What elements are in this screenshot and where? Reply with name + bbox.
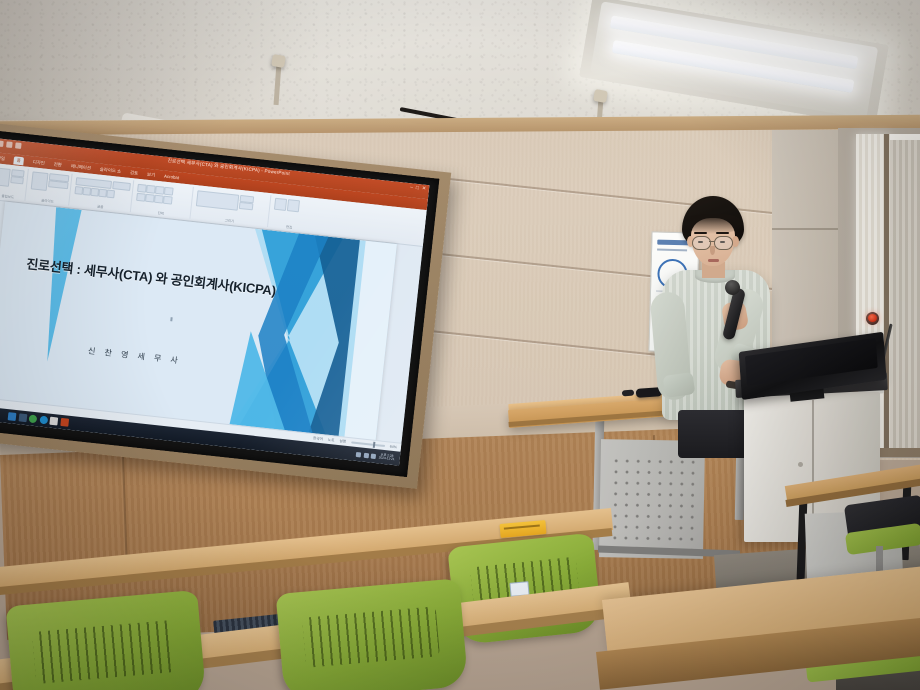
mic-indicator-light [868, 314, 877, 322]
screen-bracket-left [271, 54, 286, 68]
ribbon-group-slides[interactable]: 슬라이드 [26, 169, 72, 205]
eyeglasses-lens-right [714, 236, 733, 250]
taskbar-clock[interactable]: 오후 2:28 2024-11-21 [378, 453, 397, 462]
window-mullion [884, 134, 889, 452]
tab-acrobat[interactable]: Acrobat [164, 174, 180, 181]
quick-access-toolbar[interactable] [0, 140, 22, 149]
eyebrow-right [716, 232, 729, 234]
table-panel-perforations [609, 455, 695, 548]
ribbon-group-editing[interactable]: 편집 [269, 195, 312, 231]
start-icon[interactable] [8, 412, 17, 421]
save-icon[interactable] [0, 140, 4, 147]
system-tray[interactable]: 오후 2:28 2024-11-21 [356, 451, 400, 462]
redo-icon[interactable] [15, 142, 22, 149]
line-spacing-button[interactable] [164, 187, 174, 196]
new-slide-button[interactable] [31, 171, 49, 191]
paste-button[interactable] [0, 167, 11, 186]
undo-icon[interactable] [6, 141, 13, 148]
tv-screen[interactable]: 진로선택 세무사(CTA) 와 공인회계사(KICPA) - PowerPoin… [0, 138, 429, 466]
tab-file[interactable]: 파일 [0, 155, 5, 162]
tab-transitions[interactable]: 전환 [53, 161, 62, 168]
ribbon-group-clipboard[interactable]: 클립보드 [0, 165, 29, 201]
screen-bracket-right [593, 89, 608, 103]
sweater-cuff-left [663, 372, 696, 398]
justify-button[interactable] [163, 196, 173, 205]
tab-review[interactable]: 검토 [130, 169, 139, 176]
shape-outline-button[interactable] [239, 202, 254, 210]
minimize-icon[interactable]: – [410, 184, 413, 190]
window-controls[interactable]: – □ ✕ [410, 184, 427, 192]
powerpoint-window[interactable]: 진로선택 세무사(CTA) 와 공인회계사(KICPA) - PowerPoin… [0, 138, 429, 466]
ribbon-group-paragraph[interactable]: 단락 [132, 181, 194, 219]
presenter-ear-right [732, 236, 739, 247]
tab-design[interactable]: 디자인 [32, 159, 45, 166]
language-indicator[interactable]: 한국어 [313, 436, 323, 442]
presenter-trousers [678, 410, 754, 458]
close-icon[interactable]: ✕ [422, 186, 427, 192]
notes-button[interactable]: 노트 [328, 437, 335, 443]
eyeglasses-bridge [709, 241, 715, 242]
shapes-gallery[interactable] [196, 190, 239, 210]
tab-view[interactable]: 보기 [147, 171, 156, 178]
lecture-room-photo: 진로선택 세무사(CTA) 와 공인회계사(KICPA) - PowerPoin… [0, 0, 920, 690]
network-icon[interactable] [356, 452, 362, 458]
edge-icon[interactable] [39, 416, 48, 425]
powerpoint-icon[interactable] [60, 418, 69, 427]
lectern-lock[interactable] [798, 462, 803, 467]
eyeglasses-lens-left [692, 236, 711, 250]
eyebrow-left [694, 232, 707, 234]
window-blinds [890, 140, 920, 452]
zoom-level[interactable]: 64% [390, 445, 398, 450]
volume-icon[interactable] [364, 452, 370, 458]
presenter-clicker[interactable] [622, 390, 634, 397]
ribbon-group-label: 클립보드 [0, 192, 25, 201]
clock-date: 2024-11-21 [378, 455, 394, 461]
copy-button[interactable] [10, 176, 24, 184]
find-button[interactable] [274, 198, 287, 211]
tab-slideshow[interactable]: 슬라이드 쇼 [99, 166, 121, 174]
slide-cursor-mark [170, 318, 172, 322]
ime-icon[interactable] [371, 453, 377, 459]
ribbon-group-drawing[interactable]: 그리기 [191, 187, 271, 227]
maximize-icon[interactable]: □ [416, 185, 420, 191]
reset-button[interactable] [48, 180, 69, 189]
chrome-icon[interactable] [28, 414, 37, 423]
font-size-box[interactable] [112, 181, 131, 191]
tab-animations[interactable]: 애니메이션 [70, 163, 91, 171]
presenter-hair-fringe [684, 214, 742, 234]
presenter-mouth [708, 259, 719, 262]
font-color-button[interactable] [106, 190, 115, 199]
comments-button[interactable]: 설명 [339, 439, 346, 445]
presenter-nose [710, 246, 715, 255]
search-icon[interactable] [18, 413, 27, 422]
mail-icon[interactable] [49, 417, 58, 426]
tab-home[interactable]: 홈 [13, 156, 24, 165]
ribbon-group-font[interactable]: 글꼴 [70, 174, 134, 212]
select-button[interactable] [287, 199, 300, 212]
